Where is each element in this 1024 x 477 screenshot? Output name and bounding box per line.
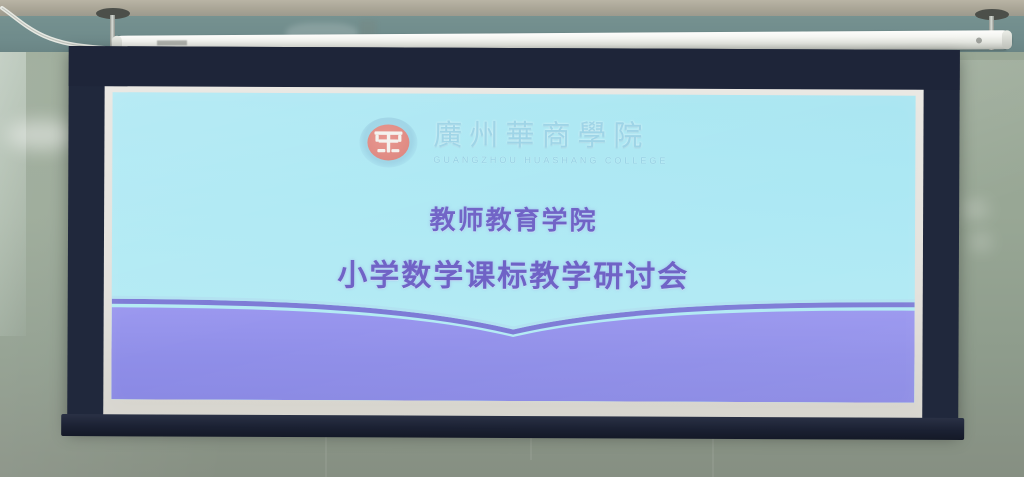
projection-screen: 廣州華商學院 GUANGZHOU HUASHANG COLLEGE 教师教育学院…: [67, 46, 960, 432]
college-name-cn: 廣州華商學院: [433, 121, 649, 151]
presentation-slide: 廣州華商學院 GUANGZHOU HUASHANG COLLEGE 教师教育学院…: [111, 92, 915, 403]
college-logo: 廣州華商學院 GUANGZHOU HUASHANG COLLEGE: [112, 116, 915, 170]
emblem-glyph-icon: [367, 124, 409, 160]
college-emblem-icon: [359, 117, 417, 167]
classroom-scene: 廣州華商學院 GUANGZHOU HUASHANG COLLEGE 教师教育学院…: [0, 0, 1024, 477]
ceiling-edge: [0, 0, 1024, 16]
roller-screw: [976, 37, 982, 43]
slide-titles: 教师教育学院 小学数学课标教学研讨会: [112, 198, 915, 297]
screen-surface: 廣州華商學院 GUANGZHOU HUASHANG COLLEGE 教师教育学院…: [103, 86, 923, 420]
screen-border-top: [69, 46, 960, 90]
college-logo-text: 廣州華商學院 GUANGZHOU HUASHANG COLLEGE: [433, 121, 668, 166]
screen-weight-bar: [61, 414, 964, 440]
roller-end-cap-right: [1002, 30, 1012, 49]
roller-brand-label: [157, 40, 187, 45]
open-book-illustration: [111, 289, 914, 403]
wall-glass-panel-left: [0, 36, 26, 336]
college-name-en: GUANGZHOU HUASHANG COLLEGE: [433, 156, 668, 166]
slide-title-line1: 教师教育学院: [112, 198, 915, 239]
